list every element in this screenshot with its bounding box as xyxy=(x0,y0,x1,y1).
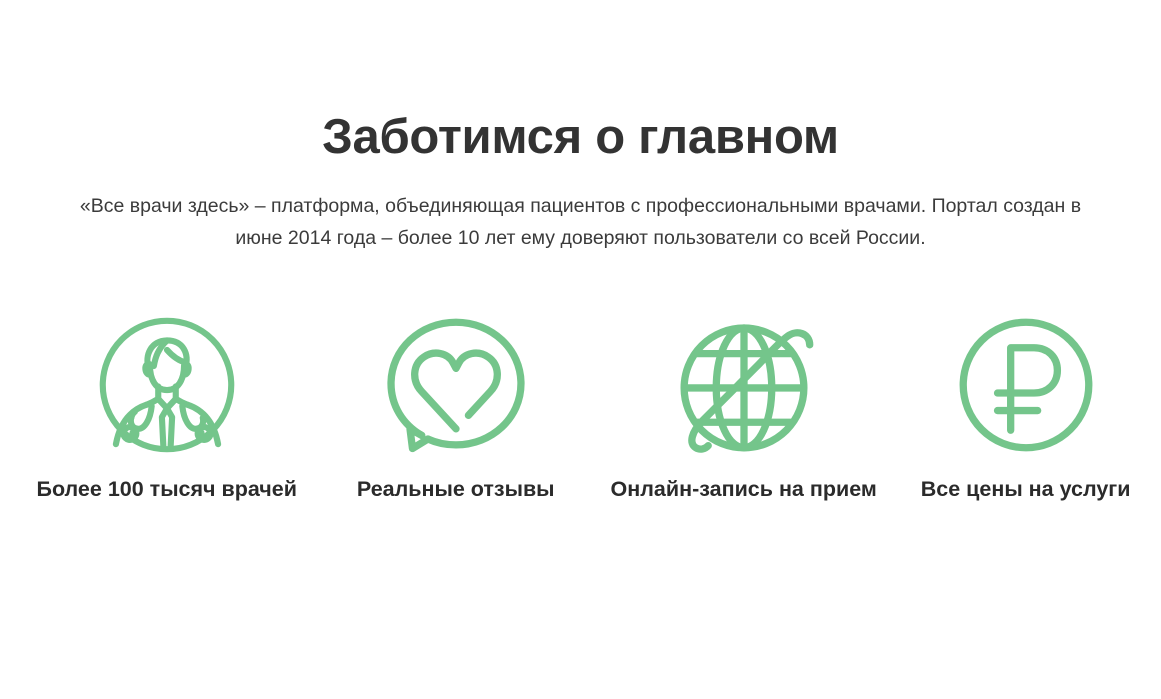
feature-label: Онлайн-запись на прием xyxy=(611,476,877,502)
feature-label: Более 100 тысяч врачей xyxy=(37,476,297,502)
feature-list: Более 100 тысяч врачей Реальные отзывы xyxy=(31,312,1131,502)
feature-label: Реальные отзывы xyxy=(357,476,555,502)
about-section: Заботимся о главном «Все врачи здесь» – … xyxy=(0,0,1161,699)
page-title: Заботимся о главном xyxy=(322,113,839,162)
feature-item-reviews: Реальные отзывы xyxy=(357,312,555,502)
feature-label: Все цены на услуги xyxy=(921,476,1131,502)
feature-item-doctors: Более 100 тысяч врачей xyxy=(37,312,297,502)
globe-icon xyxy=(671,312,817,458)
doctor-circle-icon xyxy=(94,312,240,458)
feature-item-prices: Все цены на услуги xyxy=(921,312,1131,502)
ruble-circle-icon xyxy=(953,312,1099,458)
heart-speech-bubble-icon xyxy=(383,312,529,458)
section-description: «Все врачи здесь» – платформа, объединяю… xyxy=(66,190,1096,254)
feature-item-online-booking: Онлайн-запись на прием xyxy=(611,312,877,502)
